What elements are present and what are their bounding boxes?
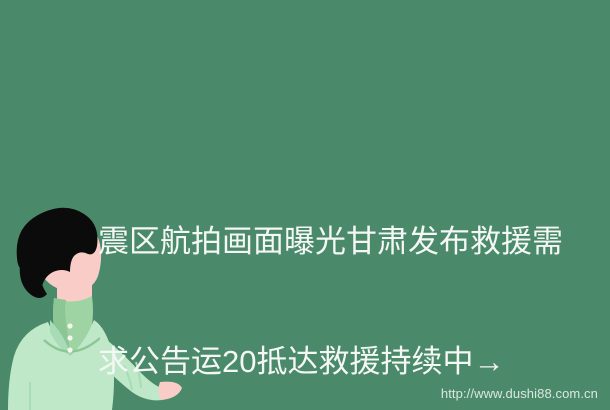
headline-line-1: 震区航拍画面曝光甘肃发布救援需 [98, 222, 578, 262]
headline-text: 震区航拍画面曝光甘肃发布救援需 求公告运20抵达救援持续中→ [98, 142, 578, 410]
button-icon [67, 323, 72, 328]
button-icon [67, 347, 72, 352]
poster-canvas: 震区航拍画面曝光甘肃发布救援需 求公告运20抵达救援持续中→ http://ww… [0, 0, 610, 410]
button-icon [67, 335, 72, 340]
watermark-url: http://www.dushi88.com.cn [441, 386, 598, 401]
headline-line-2: 求公告运20抵达救援持续中→ [98, 342, 578, 382]
